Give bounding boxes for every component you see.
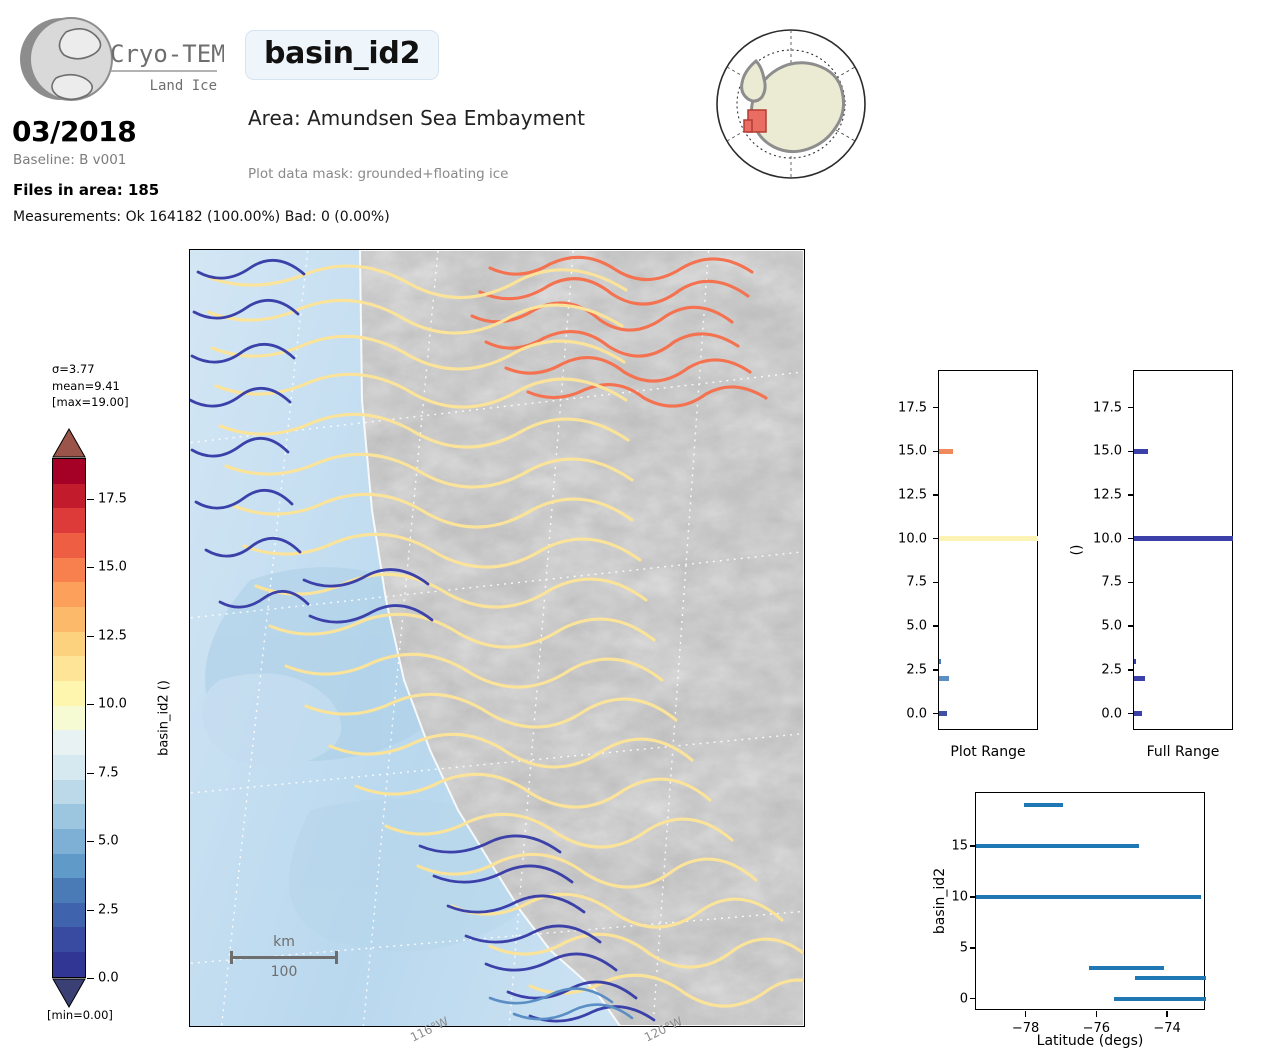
range-bar	[1134, 711, 1142, 716]
plot-range-axes: 0.02.55.07.510.012.515.017.5	[938, 370, 1038, 730]
latitude-ytick	[970, 896, 976, 897]
latitude-xlabel: Latitude (degs)	[1037, 1033, 1144, 1049]
plot-range-xlabel: Plot Range	[938, 744, 1038, 760]
range-tick-label: 0.0	[861, 706, 927, 721]
range-tick	[1128, 407, 1134, 408]
latitude-segment	[1024, 803, 1063, 807]
colorbar-band	[53, 656, 85, 681]
plot-data-mask-label: Plot data mask: grounded+floating ice	[248, 166, 508, 182]
range-tick-label: 2.5	[861, 662, 927, 677]
measurements-label: Measurements: Ok 164182 (100.00%) Bad: 0…	[13, 209, 390, 225]
colorbar-tick-label: 2.5	[98, 902, 119, 917]
scale-bar-unit: km	[273, 934, 295, 950]
parameter-badge: basin_id2	[245, 30, 439, 80]
range-tick-label: 5.0	[1056, 619, 1122, 634]
colorbar-tick-label: 10.0	[98, 697, 127, 712]
colorbar: basin_id2 () 0.02.55.07.510.012.515.017.…	[52, 428, 86, 1008]
range-tick	[933, 669, 939, 670]
latitude-ytick-label: 0	[924, 991, 968, 1006]
plot-range-panel: 0.02.55.07.510.012.515.017.5 Plot Range	[860, 360, 1060, 770]
range-bar	[1134, 449, 1148, 454]
latitude-scatter-axes: −78−76−74051015	[975, 792, 1205, 1010]
range-tick-label: 10.0	[861, 531, 927, 546]
colorbar-band	[53, 508, 85, 533]
range-tick	[933, 407, 939, 408]
colorbar-axis-label: basin_id2 ()	[157, 680, 172, 756]
range-tick-label: 15.0	[861, 444, 927, 459]
colorbar-band	[53, 607, 85, 632]
date-label: 03/2018	[12, 115, 136, 148]
range-tick-label: 10.0	[1056, 531, 1122, 546]
main-map[interactable]: km 100 78°S	[189, 249, 805, 1027]
globe-icon	[20, 18, 112, 100]
range-tick-label: 15.0	[1056, 444, 1122, 459]
latitude-segment	[976, 895, 1201, 899]
full-range-xlabel: Full Range	[1133, 744, 1233, 760]
range-tick	[933, 494, 939, 495]
range-tick-label: 17.5	[861, 400, 927, 415]
antarctica-inset-map	[712, 25, 870, 183]
map-canvas	[190, 250, 804, 1026]
latitude-ytick	[970, 845, 976, 846]
colorbar-tick	[87, 841, 94, 842]
highlighted-region-extra	[744, 120, 752, 132]
range-tick-label: 17.5	[1056, 400, 1122, 415]
range-tick	[1128, 494, 1134, 495]
baseline-label: Baseline: B v001	[13, 152, 126, 168]
latitude-xtick	[1096, 1011, 1097, 1017]
latitude-xtick	[1166, 1011, 1167, 1017]
range-tick	[933, 625, 939, 626]
files-in-area-label: Files in area: 185	[13, 181, 159, 199]
colorbar-band	[53, 632, 85, 657]
latitude-ytick	[970, 947, 976, 948]
colorbar-min-label: [min=0.00]	[47, 1008, 113, 1022]
logo-subtitle-text: Land Ice	[150, 78, 217, 94]
full-range-ylabel: ()	[1069, 545, 1085, 556]
colorbar-tick-label: 5.0	[98, 834, 119, 849]
latitude-xtick-label: −74	[1153, 1021, 1180, 1036]
latitude-ytick-label: 5	[924, 940, 968, 955]
latitude-ytick	[970, 998, 976, 999]
range-bar	[939, 676, 949, 681]
colorbar-tick-label: 17.5	[98, 492, 127, 507]
range-tick-label: 12.5	[861, 488, 927, 503]
latitude-scatter-panel: −78−76−74051015 Latitude (degs) basin_id…	[900, 780, 1230, 1060]
colorbar-stats: σ=3.77 mean=9.41 [max=19.00]	[52, 361, 129, 411]
colorbar-tick	[87, 978, 94, 979]
colorbar-tick-label: 12.5	[98, 628, 127, 643]
full-range-axes: 0.02.55.07.510.012.515.017.5	[1133, 370, 1233, 730]
cryo-tempo-logo: Cryo-TEMPO Land Ice	[14, 12, 224, 108]
range-bar	[939, 659, 941, 664]
colorbar-tick	[87, 499, 94, 500]
range-tick-label: 5.0	[861, 619, 927, 634]
colorbar-tick-label: 0.0	[98, 971, 119, 986]
colorbar-tick	[87, 773, 94, 774]
range-tick-label: 12.5	[1056, 488, 1122, 503]
colorbar-band	[53, 730, 85, 755]
range-bar	[1134, 659, 1136, 664]
colorbar-tick-label: 15.0	[98, 560, 127, 575]
colorbar-band	[53, 533, 85, 558]
range-tick-label: 0.0	[1056, 706, 1122, 721]
latitude-segment	[1135, 976, 1206, 980]
colorbar-band	[53, 854, 85, 879]
map-scale-bar: km 100	[230, 956, 338, 959]
logo-title-text: Cryo-TEMPO	[110, 40, 224, 68]
latitude-ytick-label: 15	[924, 838, 968, 853]
range-tick	[1128, 625, 1134, 626]
colorbar-band	[53, 927, 85, 952]
colorbar-tick	[87, 567, 94, 568]
range-tick	[1128, 669, 1134, 670]
colorbar-band	[53, 459, 85, 484]
range-bar	[1134, 676, 1145, 681]
range-tick-label: 7.5	[861, 575, 927, 590]
colorbar-extend-low-arrow	[52, 978, 86, 1008]
latitude-segment	[1114, 997, 1206, 1001]
latitude-xtick	[1025, 1011, 1026, 1017]
latitude-ylabel: basin_id2	[932, 868, 948, 934]
colorbar-band	[53, 804, 85, 829]
latitude-xtick-label: −78	[1012, 1021, 1039, 1036]
latitude-segment	[976, 844, 1139, 848]
range-tick-label: 7.5	[1056, 575, 1122, 590]
colorbar-bands	[52, 458, 86, 978]
colorbar-tick	[87, 636, 94, 637]
colorbar-band	[53, 582, 85, 607]
colorbar-tick	[87, 704, 94, 705]
latitude-segment	[1089, 966, 1163, 970]
colorbar-band	[53, 558, 85, 583]
colorbar-extend-high-arrow	[52, 428, 86, 458]
colorbar-tick	[87, 910, 94, 911]
range-tick-label: 2.5	[1056, 662, 1122, 677]
range-bar	[939, 711, 947, 716]
full-range-panel: 0.02.55.07.510.012.515.017.5 Full Range …	[1055, 360, 1255, 770]
scale-bar-value: 100	[271, 964, 298, 980]
range-bar	[939, 449, 953, 454]
colorbar-band	[53, 829, 85, 854]
range-tick	[933, 582, 939, 583]
range-bar	[939, 536, 1038, 541]
colorbar-band	[53, 952, 85, 977]
colorbar-band	[53, 681, 85, 706]
colorbar-band	[53, 780, 85, 805]
colorbar-band	[53, 878, 85, 903]
colorbar-band	[53, 903, 85, 928]
colorbar-band	[53, 484, 85, 509]
range-tick	[1128, 582, 1134, 583]
range-bar	[1134, 536, 1233, 541]
colorbar-band	[53, 755, 85, 780]
scale-bar-line	[230, 956, 338, 959]
colorbar-band	[53, 706, 85, 731]
colorbar-tick-label: 7.5	[98, 765, 119, 780]
area-title: Area: Amundsen Sea Embayment	[248, 106, 585, 130]
